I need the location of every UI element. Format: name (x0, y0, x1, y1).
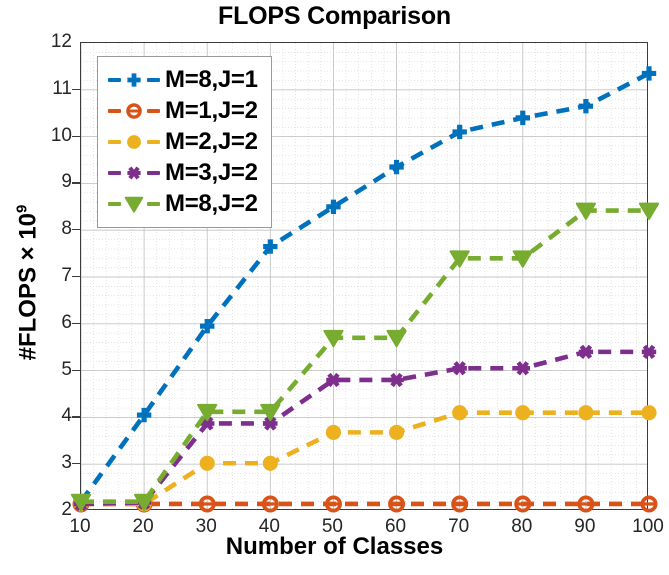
legend-label: M=1,J=2 (165, 97, 258, 125)
legend-label: M=3,J=2 (165, 159, 258, 187)
figure: FLOPS Comparison 23456789101112102030405… (0, 0, 669, 575)
legend-symbol (122, 161, 146, 185)
y-axis-exponent: 9 (14, 205, 31, 213)
y-axis-label-text: #FLOPS × 10 (15, 213, 42, 360)
data-point (642, 497, 655, 510)
data-point (515, 405, 530, 420)
legend-line-right (147, 171, 160, 175)
legend-item-0[interactable]: M=8,J=1 (108, 64, 258, 95)
data-point (516, 363, 530, 375)
legend-symbol (122, 130, 146, 154)
legend-line-right (147, 78, 160, 82)
data-point (452, 363, 466, 375)
data-point (641, 405, 656, 420)
legend-symbol (122, 192, 146, 216)
data-point (516, 497, 529, 510)
data-point (578, 405, 593, 420)
legend-item-2[interactable]: M=2,J=2 (108, 126, 258, 157)
legend-label: M=2,J=2 (165, 128, 258, 156)
x-axis-title: Number of Classes (0, 533, 669, 561)
chart-title: FLOPS Comparison (0, 2, 669, 31)
data-point (200, 456, 215, 471)
legend-line-right (147, 140, 160, 144)
legend: M=8,J=1M=1,J=2M=2,J=2M=3,J=2M=8,J=2 (97, 56, 272, 228)
legend-item-3[interactable]: M=3,J=2 (108, 157, 258, 188)
legend-symbol (122, 99, 146, 123)
legend-line-left (108, 171, 121, 175)
data-point (642, 346, 656, 358)
data-point (326, 425, 341, 440)
legend-item-4[interactable]: M=8,J=2 (108, 188, 258, 219)
data-point (263, 456, 278, 471)
y-tick-mark (72, 229, 80, 230)
legend-label: M=8,J=1 (165, 66, 258, 94)
series-1 (74, 497, 655, 510)
data-point (326, 374, 340, 386)
legend-marker-asterisk-icon (108, 162, 160, 184)
data-point (327, 497, 340, 510)
series-2 (73, 405, 656, 511)
y-tick-mark (72, 370, 80, 371)
data-point (579, 346, 593, 358)
legend-marker-plus-icon (108, 69, 160, 91)
data-point (201, 497, 214, 510)
series-3 (74, 346, 656, 510)
legend-line-left (108, 109, 121, 113)
series-4 (72, 204, 658, 510)
data-point (389, 374, 403, 386)
legend-marker-circle-filled-icon (108, 131, 160, 153)
data-point (516, 111, 530, 125)
y-tick-mark (72, 416, 80, 417)
data-point (453, 497, 466, 510)
data-point (264, 497, 277, 510)
legend-line-right (147, 202, 160, 206)
y-axis-title: #FLOPS × 109 (14, 48, 43, 518)
data-point (390, 497, 403, 510)
legend-line-left (108, 202, 121, 206)
legend-line-left (108, 140, 121, 144)
legend-symbol (122, 68, 146, 92)
y-tick-mark (72, 89, 80, 90)
y-tick-mark (72, 463, 80, 464)
legend-line-left (108, 78, 121, 82)
legend-marker-circle-minus-icon (108, 100, 160, 122)
y-tick-mark (72, 136, 80, 137)
y-tick-mark (72, 182, 80, 183)
y-tick-mark (72, 276, 80, 277)
legend-marker-triangle-down-icon (108, 193, 160, 215)
data-point (579, 497, 592, 510)
data-point (389, 425, 404, 440)
legend-line-right (147, 109, 160, 113)
legend-item-1[interactable]: M=1,J=2 (108, 95, 258, 126)
legend-label: M=8,J=2 (165, 190, 258, 218)
data-point (452, 405, 467, 420)
data-point (388, 331, 406, 346)
y-tick-mark (72, 323, 80, 324)
data-point (579, 99, 593, 113)
data-point (640, 204, 658, 219)
